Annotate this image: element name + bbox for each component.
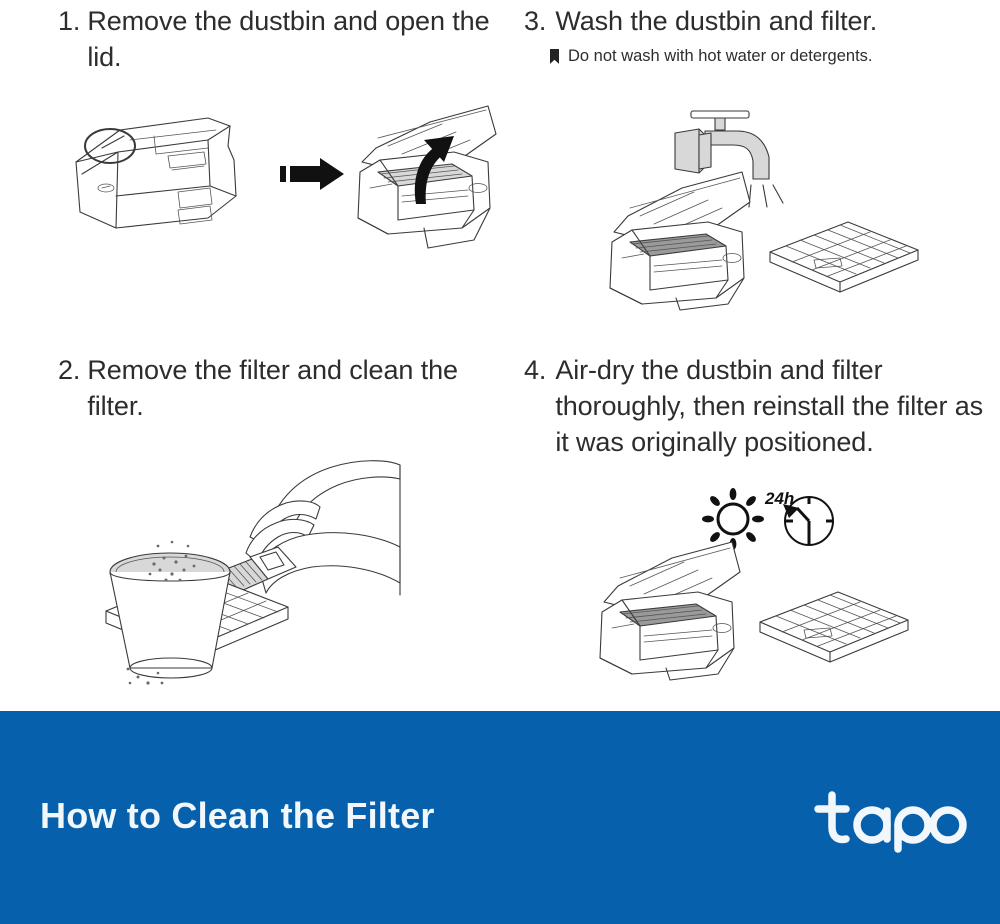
step-2-waste-bin-figure bbox=[102, 540, 282, 700]
step-2-number: 2. bbox=[58, 353, 87, 389]
open-dustbin-drawing bbox=[600, 542, 740, 680]
step-4-text: Air-dry the dustbin and filter thoroughl… bbox=[555, 353, 990, 461]
tapo-logo bbox=[812, 789, 964, 851]
step-1-text: Remove the dustbin and open the lid. bbox=[87, 4, 510, 76]
instruction-steps-area: 1. Remove the dustbin and open the lid. bbox=[0, 0, 1000, 711]
step-1-figure bbox=[58, 100, 498, 260]
step-2-heading: 2. Remove the filter and clean the filte… bbox=[40, 345, 510, 425]
waste-bin-illustration bbox=[102, 540, 282, 700]
banner-title: How to Clean the Filter bbox=[40, 795, 435, 837]
step-4-number: 4. bbox=[524, 353, 555, 389]
robot-vacuum-illustration bbox=[58, 100, 498, 260]
clock-24h-icon: 24h bbox=[764, 489, 833, 545]
step-3-heading: 3. Wash the dustbin and filter. bbox=[510, 0, 990, 40]
step-4-heading: 4. Air-dry the dustbin and filter thorou… bbox=[510, 345, 990, 461]
open-dustbin-with-filter-illustration-2 bbox=[560, 550, 920, 680]
step-3-note: Do not wash with hot water or detergents… bbox=[550, 46, 990, 67]
filter-plate-drawing bbox=[760, 592, 908, 662]
step-3-note-text: Do not wash with hot water or detergents… bbox=[568, 46, 873, 67]
closed-dustbin-drawing bbox=[76, 118, 236, 228]
open-dustbin-with-filter-illustration bbox=[570, 180, 930, 310]
sun-icon bbox=[702, 488, 764, 550]
arrow-right-icon bbox=[280, 158, 344, 190]
step-3-text: Wash the dustbin and filter. bbox=[555, 4, 990, 40]
step-4-drying-icons: 24h bbox=[685, 488, 845, 550]
tapo-wordmark bbox=[812, 789, 964, 851]
step-3: 3. Wash the dustbin and filter. Do not w… bbox=[510, 0, 990, 345]
footer-banner: How to Clean the Filter bbox=[0, 711, 1000, 924]
clock-label: 24h bbox=[764, 489, 794, 508]
filter-plate-drawing bbox=[770, 222, 918, 292]
open-dustbin-drawing bbox=[610, 172, 750, 310]
step-1-number: 1. bbox=[58, 4, 87, 40]
step-4: 4. Air-dry the dustbin and filter thorou… bbox=[510, 345, 990, 711]
step-2-text: Remove the filter and clean the filter. bbox=[87, 353, 510, 425]
step-3-dustbin-filter-figure bbox=[570, 180, 930, 310]
step-3-number: 3. bbox=[524, 4, 555, 40]
step-2: 2. Remove the filter and clean the filte… bbox=[40, 345, 510, 711]
sun-and-clock-icons: 24h bbox=[685, 488, 845, 550]
bookmark-icon bbox=[550, 49, 559, 64]
step-1: 1. Remove the dustbin and open the lid. bbox=[40, 0, 510, 345]
step-1-heading: 1. Remove the dustbin and open the lid. bbox=[40, 0, 510, 76]
step-4-dustbin-filter-figure bbox=[560, 550, 920, 680]
open-dustbin-drawing bbox=[358, 106, 496, 248]
